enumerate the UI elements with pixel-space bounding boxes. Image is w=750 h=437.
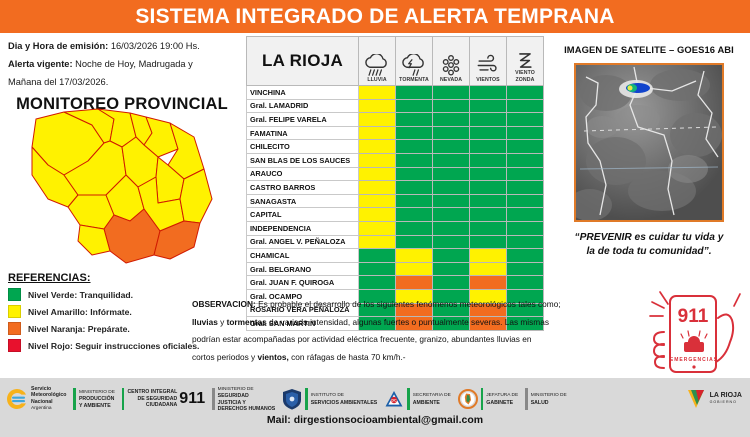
alert-level-cell — [507, 153, 544, 167]
department-name-cell: INDEPENDENCIA — [247, 221, 359, 235]
emission-datetime-line: Dia y Hora de emisión: 16/03/2026 19:00 … — [8, 39, 236, 54]
smn-logo-text: Servicio Meteorológico Nacional Argentin… — [31, 386, 66, 413]
la-rioja-logo-text: LA RIOJA G O B I E R N O — [710, 393, 742, 406]
alert-level-cell — [470, 262, 507, 276]
lr-l2: G O B I E R N O — [710, 400, 736, 404]
alert-level-cell — [507, 140, 544, 154]
alert-level-cell — [359, 276, 396, 290]
observation-line-1-text: Es probable el desarrollo de los siguien… — [256, 299, 561, 309]
alert-level-cell — [433, 249, 470, 263]
alert-level-cell — [433, 221, 470, 235]
isa-logo-text: INSTITUTO DE SERVICIOS AMBIENTALES — [311, 392, 377, 406]
department-name-cell: ARAUCO — [247, 167, 359, 181]
alert-level-cell — [470, 167, 507, 181]
observation-kw-lluvias: lluvias — [192, 317, 218, 327]
province-title-cell: LA RIOJA — [247, 37, 359, 86]
emission-value: 16/03/2026 19:00 Hs. — [108, 41, 200, 51]
column-label-zonda: ZONDA — [507, 77, 543, 84]
table-row: CHILECITO — [247, 140, 544, 154]
column-label-vientos: VIENTOS — [470, 77, 506, 84]
legend-title: REFERENCIAS: — [8, 272, 248, 284]
alert-level-cell — [433, 276, 470, 290]
alert-level-cell — [359, 126, 396, 140]
department-name-cell: Gral. LAMADRID — [247, 99, 359, 113]
table-row: Gral. JUAN F. QUIROGA — [247, 276, 544, 290]
alert-level-cell — [470, 153, 507, 167]
legend-label-orange: Nivel Naranja: Prepárate. — [28, 324, 130, 334]
cisc-logo-text: CENTRO INTEGRAL DE SEGURIDAD CIUDADANA — [127, 389, 177, 408]
alert-level-cell — [507, 208, 544, 222]
msj-l3: JUSTICIA Y — [218, 400, 246, 406]
department-name-cell: CASTRO BARROS — [247, 181, 359, 195]
department-name-cell: CAPITAL — [247, 208, 359, 222]
alert-level-cell — [359, 249, 396, 263]
table-row: CAPITAL — [247, 208, 544, 222]
table-row: Gral. LAMADRID — [247, 99, 544, 113]
legend-swatch-green — [8, 288, 21, 301]
department-name-cell: CHILECITO — [247, 140, 359, 154]
alert-level-cell — [470, 126, 507, 140]
alert-level-cell — [470, 181, 507, 195]
alert-level-cell — [507, 221, 544, 235]
prevention-quote: “PREVENIR es cuidar tu vida y la de toda… — [548, 231, 750, 259]
alert-level-cell — [359, 221, 396, 235]
prod-l3: Y AMBIENTE — [79, 403, 111, 409]
emission-label: Dia y Hora de emisión: — [8, 41, 108, 51]
alert-level-cell — [433, 113, 470, 127]
alert-level-cell — [470, 140, 507, 154]
logo-ministerio-seguridad-justicia-ddhh: MINISTERIO DE SEGURIDAD JUSTICIA Y DEREC… — [212, 386, 275, 413]
alert-level-cell — [507, 167, 544, 181]
column-header-viento-zonda: VIENTO ZONDA — [507, 37, 544, 86]
zonda-wind-icon — [510, 51, 540, 70]
department-name-cell: FAMATINA — [247, 126, 359, 140]
cisc-l1: CENTRO INTEGRAL — [127, 389, 177, 395]
table-row: CASTRO BARROS — [247, 181, 544, 195]
divider-bar-4 — [305, 388, 308, 410]
alert-table: LA RIOJA LLUVIA — [246, 36, 544, 331]
alert-level-cell — [433, 86, 470, 100]
alert-level-cell — [359, 140, 396, 154]
alert-level-cell — [396, 235, 433, 249]
department-name-cell: VINCHINA — [247, 86, 359, 100]
validity-label: Alerta vigente: — [8, 59, 73, 69]
msj-l4: DERECHOS HUMANOS — [218, 406, 276, 412]
alert-bulletin-page: SISTEMA INTEGRADO DE ALERTA TEMPRANA Dia… — [0, 0, 750, 437]
alert-level-cell — [470, 249, 507, 263]
table-row: INDEPENDENCIA — [247, 221, 544, 235]
table-row: Gral. FELIPE VARELA — [247, 113, 544, 127]
alert-level-cell — [470, 235, 507, 249]
logo-ministerio-salud: MINISTERIO DE SALUD — [525, 388, 566, 410]
911-phone-hand-icon: 911 EMERGENCIAS — [648, 288, 748, 380]
observation-line-4-a: cortos periodos y — [192, 352, 257, 362]
column-header-vientos: VIENTOS — [470, 37, 507, 86]
alert-level-cell — [396, 140, 433, 154]
msj-l2: SEGURIDAD — [218, 393, 249, 399]
satellite-panel: IMAGEN DE SATELITE – GOES16 ABI — [548, 36, 750, 294]
alert-level-cell — [433, 181, 470, 195]
snow-icon — [436, 54, 466, 77]
alert-level-cell — [433, 99, 470, 113]
isa-l1: INSTITUTO DE — [311, 393, 344, 398]
cisc-l3: CIUDADANA — [146, 402, 177, 408]
alert-validity-line: Alerta vigente: Noche de Hoy, Madrugada … — [8, 57, 236, 72]
contact-mail: Mail: dirgestionsocioambiental@gmail.com — [0, 414, 750, 426]
logo-jefatura-gabinete: JEFATURA DE GABINETE — [458, 388, 518, 410]
sec-l2: AMBIENTE — [413, 400, 440, 406]
alert-level-cell — [359, 99, 396, 113]
alert-level-cell — [507, 276, 544, 290]
msj-l1: MINISTERIO DE — [218, 387, 254, 392]
alert-level-cell — [396, 99, 433, 113]
alert-level-cell — [396, 113, 433, 127]
alert-level-cell — [470, 208, 507, 222]
jef-l1: JEFATURA DE — [486, 393, 518, 398]
alert-level-cell — [433, 140, 470, 154]
cisc-911-number: 911 — [179, 391, 205, 407]
alert-level-cell — [470, 86, 507, 100]
prod-l2: PRODUCCIÓN — [79, 396, 114, 402]
smn-logo-icon — [6, 388, 28, 410]
institution-logos: Servicio Meteorológico Nacional Argentin… — [6, 382, 744, 416]
alert-level-cell — [507, 126, 544, 140]
column-header-tormenta: TORMENTA — [396, 37, 433, 86]
alert-level-cell — [507, 262, 544, 276]
alert-level-cell — [359, 167, 396, 181]
alert-level-cell — [433, 153, 470, 167]
alert-level-cell — [359, 208, 396, 222]
alert-level-cell — [433, 194, 470, 208]
alert-level-cell — [396, 86, 433, 100]
alert-level-cell — [359, 153, 396, 167]
alert-validity-line2: Mañana del 17/03/2026. — [8, 75, 236, 90]
alert-level-cell — [470, 194, 507, 208]
legend-label-red: Nivel Rojo: Seguir instrucciones oficial… — [28, 341, 199, 351]
alert-level-cell — [433, 262, 470, 276]
observation-block: OBSERVACION: Es probable el desarrollo d… — [192, 298, 662, 368]
satellite-title: IMAGEN DE SATELITE – GOES16 ABI — [548, 44, 750, 55]
alert-level-cell — [433, 208, 470, 222]
logo-ministerio-produccion-ambiente: MINISTERIO DE PRODUCCIÓN Y AMBIENTE — [73, 388, 114, 410]
alert-level-cell — [396, 276, 433, 290]
department-name-cell: Gral. ANGEL V. PEÑALOZA — [247, 235, 359, 249]
alert-level-cell — [470, 221, 507, 235]
column-label-tormenta: TORMENTA — [396, 77, 432, 84]
legend-swatch-yellow — [8, 305, 21, 318]
alert-level-cell — [507, 113, 544, 127]
table-row: SANAGASTA — [247, 194, 544, 208]
alert-level-cell — [507, 194, 544, 208]
validity-value: Noche de Hoy, Madrugada y — [73, 59, 193, 69]
table-header-row: LA RIOJA LLUVIA — [247, 37, 544, 86]
alert-level-cell — [359, 113, 396, 127]
province-map — [18, 103, 223, 268]
alert-level-cell — [396, 249, 433, 263]
observation-conj: y — [218, 317, 227, 327]
jef-l2: GABINETE — [486, 400, 513, 406]
logo-la-rioja-gobierno: LA RIOJA G O B I E R N O — [685, 388, 742, 410]
sal-l2: SALUD — [531, 400, 549, 406]
column-label-viento: VIENTO — [507, 70, 543, 77]
isa-l2: SERVICIOS AMBIENTALES — [311, 400, 377, 406]
alert-level-cell — [470, 113, 507, 127]
table-row: Gral. BELGRANO — [247, 262, 544, 276]
salud-logo-text: MINISTERIO DE SALUD — [531, 392, 567, 406]
table-row: Gral. ANGEL V. PEÑALOZA — [247, 235, 544, 249]
alert-level-cell — [470, 276, 507, 290]
quote-line-2: la de toda tu comunidad”. — [586, 246, 711, 257]
prod-l1: MINISTERIO DE — [79, 390, 115, 395]
table-row: CHAMICAL — [247, 249, 544, 263]
smn-l3: Nacional — [31, 399, 53, 405]
table-row: ARAUCO — [247, 167, 544, 181]
observation-line-2: lluvias y tormentas de variada intensida… — [192, 316, 662, 329]
legend-label-yellow: Nivel Amarillo: Infórmate. — [28, 307, 132, 317]
page-header: SISTEMA INTEGRADO DE ALERTA TEMPRANA — [0, 0, 750, 33]
department-name-cell: Gral. FELIPE VARELA — [247, 113, 359, 127]
secretaria-ambiente-icon: DC — [384, 389, 404, 409]
sal-l1: MINISTERIO DE — [531, 393, 567, 398]
smn-l4: Argentina — [31, 406, 52, 411]
observation-line-4: cortos periodos y vientos, con ráfagas d… — [192, 351, 662, 364]
column-label-nevada: NEVADA — [433, 77, 469, 84]
divider-bar-5 — [407, 388, 410, 410]
emergency-911-graphic: 911 EMERGENCIAS — [648, 288, 748, 380]
alert-matrix: LA RIOJA LLUVIA — [246, 36, 543, 294]
la-rioja-flag-icon — [685, 388, 707, 410]
wind-icon — [473, 54, 503, 77]
divider-bar-6 — [481, 388, 484, 410]
alert-level-cell — [396, 194, 433, 208]
divider-bar-1 — [73, 388, 76, 410]
alert-level-cell — [359, 235, 396, 249]
divider-bar-3 — [212, 388, 215, 410]
column-header-lluvia: LLUVIA — [359, 37, 396, 86]
observation-line-3: podrían estar acompañadas por actividad … — [192, 333, 662, 346]
storm-cell — [619, 80, 653, 98]
alert-level-cell — [396, 221, 433, 235]
thunderstorm-icon — [399, 54, 429, 77]
police-shield-icon — [282, 388, 302, 410]
alert-level-cell — [507, 235, 544, 249]
alert-level-cell — [396, 167, 433, 181]
la-rioja-map-svg — [18, 103, 223, 268]
msjddhh-logo-text: MINISTERIO DE SEGURIDAD JUSTICIA Y DEREC… — [218, 386, 276, 413]
911-word: EMERGENCIAS — [670, 357, 718, 363]
table-row: SAN BLAS DE LOS SAUCES — [247, 153, 544, 167]
alert-level-cell — [507, 249, 544, 263]
logo-centro-integral-seguridad-911: CENTRO INTEGRAL DE SEGURIDAD CIUDADANA 9… — [122, 388, 205, 410]
alert-level-cell — [507, 86, 544, 100]
observation-line-1: OBSERVACION: Es probable el desarrollo d… — [192, 298, 662, 311]
satellite-image-svg — [576, 65, 722, 220]
smn-l1: Servicio — [31, 386, 51, 392]
logo-servicio-meteorologico-nacional: Servicio Meteorológico Nacional Argentin… — [6, 386, 66, 413]
lr-l1: LA RIOJA — [710, 392, 742, 399]
table-row: VINCHINA — [247, 86, 544, 100]
divider-bar-2 — [122, 388, 125, 410]
quote-line-1: “PREVENIR es cuidar tu vida y — [575, 232, 724, 243]
legend-label-green: Nivel Verde: Tranquilidad. — [28, 290, 133, 300]
page-title: SISTEMA INTEGRADO DE ALERTA TEMPRANA — [135, 5, 614, 29]
alert-level-cell — [433, 126, 470, 140]
produccion-logo-text: MINISTERIO DE PRODUCCIÓN Y AMBIENTE — [79, 389, 115, 409]
alert-level-cell — [396, 208, 433, 222]
alert-level-cell — [359, 86, 396, 100]
column-header-nevada: NEVADA — [433, 37, 470, 86]
column-label-lluvia: LLUVIA — [359, 77, 395, 84]
alert-level-cell — [433, 235, 470, 249]
alert-level-cell — [507, 99, 544, 113]
observation-line-4-c: con ráfagas de hasta 70 km/h.- — [289, 352, 406, 362]
observation-kw-vientos: vientos, — [257, 352, 288, 362]
secretaria-logo-text: SECRETARIA DE AMBIENTE — [413, 392, 451, 406]
department-name-cell: CHAMICAL — [247, 249, 359, 263]
rain-icon — [362, 54, 392, 77]
alert-level-cell — [359, 181, 396, 195]
alert-level-cell — [396, 181, 433, 195]
legend-swatch-orange — [8, 322, 21, 335]
logo-secretaria-ambiente: DC SECRETARIA DE AMBIENTE — [384, 388, 451, 410]
table-row: FAMATINA — [247, 126, 544, 140]
department-name-cell: Gral. JUAN F. QUIROGA — [247, 276, 359, 290]
911-number: 911 — [678, 306, 709, 327]
alert-level-cell — [359, 262, 396, 276]
alert-level-cell — [433, 167, 470, 181]
alert-level-cell — [470, 99, 507, 113]
divider-bar-7 — [525, 388, 528, 410]
sec-l1: SECRETARIA DE — [413, 393, 451, 398]
jefatura-logo-text: JEFATURA DE GABINETE — [486, 392, 518, 406]
observation-label: OBSERVACION: — [192, 299, 256, 309]
svg-text:DC: DC — [392, 398, 398, 402]
emission-metadata: Dia y Hora de emisión: 16/03/2026 19:00 … — [0, 33, 244, 90]
alert-level-cell — [396, 153, 433, 167]
observation-line-2-text: de variada intensidad, algunas fuertes o… — [267, 317, 549, 327]
jefatura-gabinete-icon — [458, 389, 478, 409]
alert-table-body: VINCHINAGral. LAMADRIDGral. FELIPE VAREL… — [247, 86, 544, 331]
footer-bar: Servicio Meteorológico Nacional Argentin… — [0, 378, 750, 437]
alert-level-cell — [507, 181, 544, 195]
observation-kw-tormentas: tormentas — [227, 317, 267, 327]
alert-level-cell — [359, 194, 396, 208]
satellite-image — [574, 63, 724, 222]
alert-level-cell — [396, 126, 433, 140]
department-name-cell: Gral. BELGRANO — [247, 262, 359, 276]
department-name-cell: SAN BLAS DE LOS SAUCES — [247, 153, 359, 167]
alert-level-cell — [396, 262, 433, 276]
department-name-cell: SANAGASTA — [247, 194, 359, 208]
logo-instituto-servicios-ambientales: INSTITUTO DE SERVICIOS AMBIENTALES — [282, 388, 377, 410]
legend-swatch-red — [8, 339, 21, 352]
cisc-l2: DE SEGURIDAD — [138, 396, 178, 402]
smn-l2: Meteorológico — [31, 392, 66, 398]
